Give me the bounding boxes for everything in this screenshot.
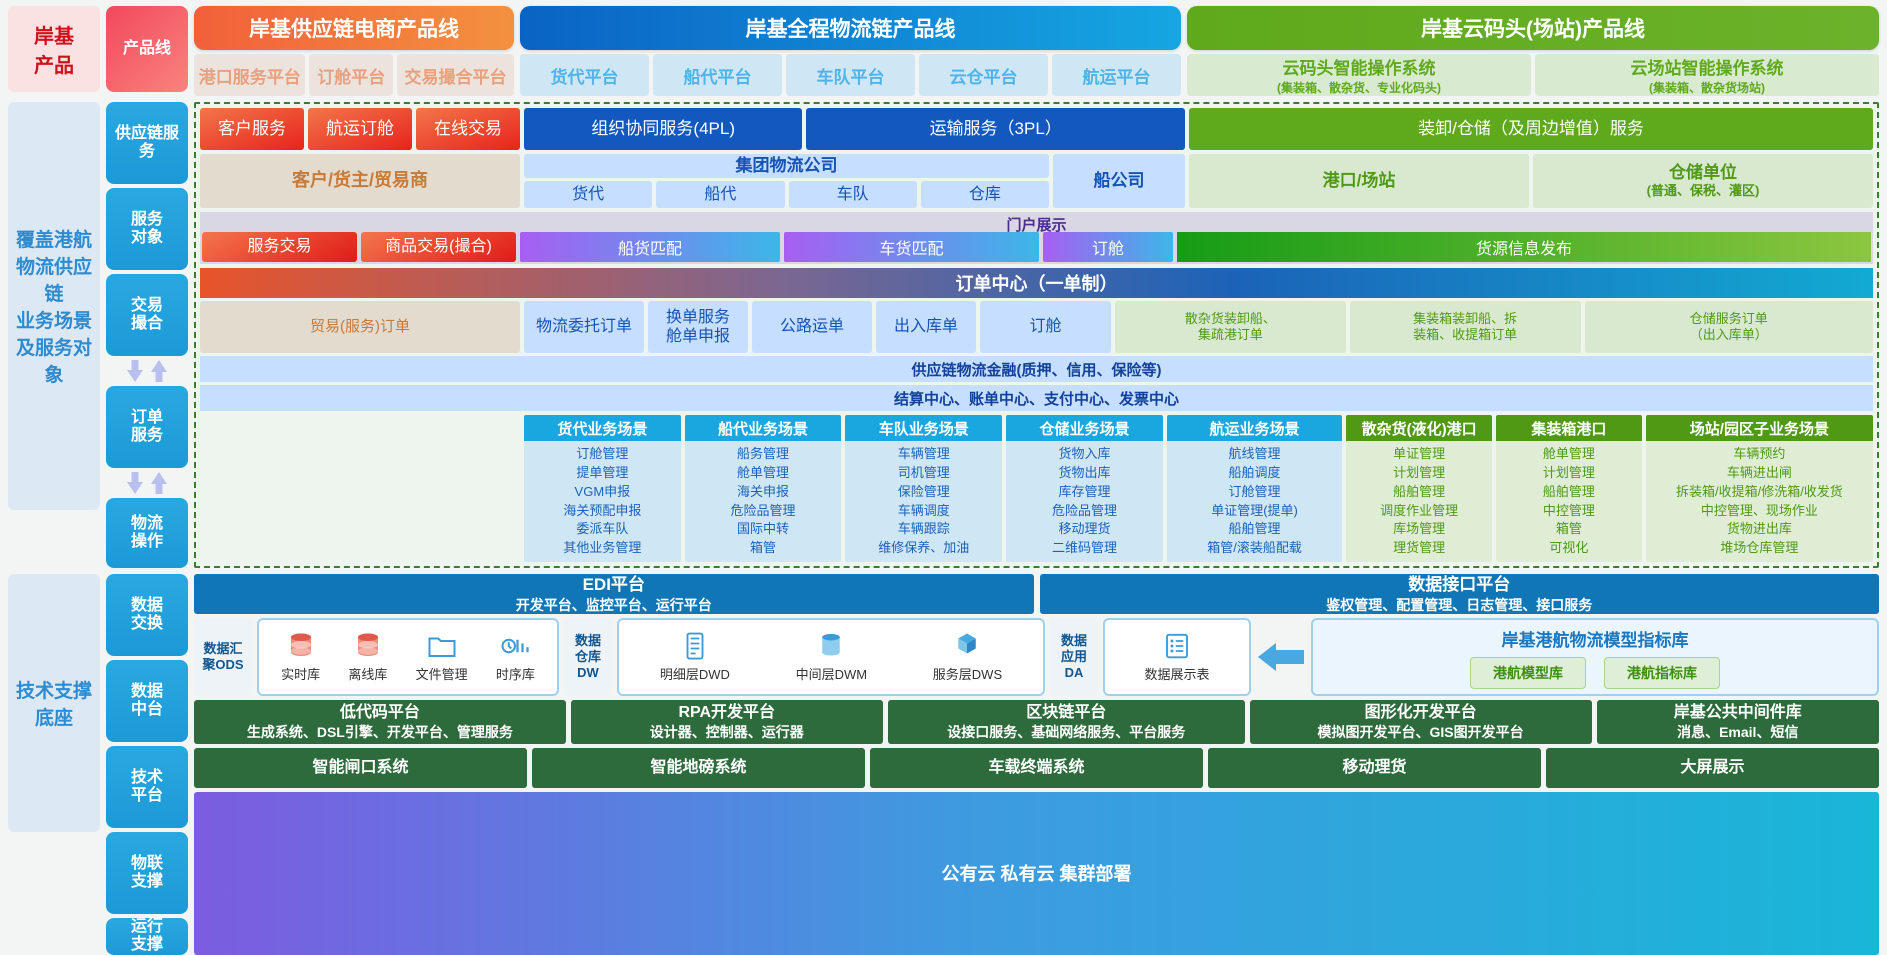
trade-booking[interactable]: 订舱 [1043, 232, 1173, 262]
scenario-item[interactable]: 车辆跟踪 [847, 520, 1000, 539]
order-trade-service[interactable]: 贸易(服务)订单 [200, 301, 520, 353]
object-warehouse[interactable]: 仓库 [921, 181, 1049, 208]
scenario-item[interactable]: 提单管理 [526, 464, 679, 483]
product-line-section: 岸基 产品 产品线 岸基供应链电商产品线 港口服务平台 订舱平台 交易撮合平台 … [8, 6, 1879, 96]
scenario-item[interactable]: 货物出库 [1008, 464, 1161, 483]
rpa-platform[interactable]: RPA开发平台 设计器、控制器、运行器 [571, 700, 883, 744]
edi-sub: 开发平台、监控平台、运行平台 [516, 596, 712, 614]
trade-service-transaction[interactable]: 服务交易 [202, 232, 357, 262]
logistics-ops-row: 货代业务场景 订舱管理提单管理VGM申报海关预配申报委派车队其他业务管理 船代业… [200, 415, 1873, 562]
row-label-data-midend[interactable]: 数据 中台 [106, 660, 188, 742]
index-library-button[interactable]: 港航指标库 [1604, 657, 1720, 689]
scenario-item[interactable]: 船舶调度 [1169, 464, 1341, 483]
graphics-sub: 模拟图开发平台、GIS图开发平台 [1318, 723, 1524, 742]
ods-offline[interactable]: 离线库 [348, 631, 387, 683]
service-loading-warehouse[interactable]: 装卸/仓储（及周边增值）服务 [1189, 108, 1873, 150]
business-section: 覆盖港航 物流供应 链 业务场景 及服务对象 供应链服 务 服务 对象 交易 撮… [8, 102, 1879, 568]
blockchain-sub: 设接口服务、基础网络服务、平台服务 [947, 723, 1185, 742]
layers-icon [680, 631, 710, 661]
row-label-service-object[interactable]: 服务 对象 [106, 188, 188, 270]
scenario-bulk-port[interactable]: 散杂货(液化)港口 单证管理计划管理船舶管理调度作业管理库场管理理货管理 [1346, 415, 1492, 562]
dw-label: 数据 仓库 DW [564, 618, 612, 696]
object-customer-shipper-trader[interactable]: 客户/货主/贸易商 [200, 154, 520, 208]
scenario-freight-forwarder[interactable]: 货代业务场景 订舱管理提单管理VGM申报海关预配申报委派车队其他业务管理 [524, 415, 681, 562]
edi-platform[interactable]: EDI平台 开发平台、监控平台、运行平台 [194, 574, 1034, 614]
sub-freight-forwarder-platform[interactable]: 货代平台 [520, 54, 649, 96]
scenario-items: 舱单管理计划管理船舶管理中控管理箱管可视化 [1496, 441, 1642, 562]
row-label-run-support[interactable]: 运行 支撑 [106, 918, 188, 955]
database-icon [286, 631, 316, 661]
scenario-item[interactable]: 其他业务管理 [526, 539, 679, 558]
object-port-yard[interactable]: 港口/场站 [1189, 154, 1529, 208]
sub-booking-platform[interactable]: 订舱平台 [309, 54, 393, 96]
scenario-item[interactable]: 船舶管理 [1348, 483, 1490, 502]
row-label-product-line: 产品线 [106, 6, 188, 92]
lowcode-title: 低代码平台 [340, 702, 420, 724]
iot-smart-gate[interactable]: 智能闸口系统 [194, 748, 527, 788]
sub-cloud-yard-os-main: 云场站智能操作系统 [1631, 54, 1784, 79]
scenario-items: 车辆预约车辆进出闸拆装箱/收提箱/修洗箱/收发货中控管理、现场作业货物进出库堆场… [1646, 441, 1873, 562]
middleware-sub: 消息、Email、短信 [1677, 723, 1798, 742]
database-icon [816, 631, 846, 661]
order-warehouse-service[interactable]: 仓储服务订单 （出入库单） [1585, 301, 1873, 353]
iot-smart-weighbridge[interactable]: 智能地磅系统 [532, 748, 865, 788]
architecture-diagram: 岸基 产品 产品线 岸基供应链电商产品线 港口服务平台 订舱平台 交易撮合平台 … [0, 0, 1887, 912]
scenario-item[interactable]: 箱管 [687, 539, 840, 558]
order-road-waybill[interactable]: 公路运单 [752, 301, 872, 353]
tech-section: 技术支撑 底座 数据 交换 数据 中台 技术 平台 物联 支撑 运行 支撑 ED… [8, 574, 1879, 955]
tech-platform-row: 低代码平台 生成系统、DSL引擎、开发平台、管理服务 RPA开发平台 设计器、控… [194, 700, 1879, 744]
row-label-logistics-ops[interactable]: 物流 操作 [106, 498, 188, 568]
scenario-item[interactable]: 拆装箱/收提箱/修洗箱/收发货 [1648, 483, 1871, 502]
dw-dws[interactable]: 服务层DWS [933, 631, 1002, 683]
dw-dwd-label: 明细层DWD [660, 664, 730, 683]
scenario-item[interactable]: 调度作业管理 [1348, 502, 1490, 521]
arrow-up-icon [150, 472, 168, 494]
scenario-title: 仓储业务场景 [1006, 415, 1163, 441]
ods-file-manage[interactable]: 文件管理 [416, 631, 468, 683]
scenario-item[interactable]: 航线管理 [1169, 445, 1341, 464]
object-ship-agency[interactable]: 船代 [656, 181, 784, 208]
scenario-item[interactable]: 船舶管理 [1169, 520, 1341, 539]
middleware-library[interactable]: 岸基公共中间件库 消息、Email、短信 [1597, 700, 1879, 744]
row-label-iot-support[interactable]: 物联 支撑 [106, 832, 188, 914]
scenario-item[interactable]: 计划管理 [1348, 464, 1490, 483]
scenario-item[interactable]: 司机管理 [847, 464, 1000, 483]
middleware-title: 岸基公共中间件库 [1674, 702, 1802, 724]
scenario-item[interactable]: 库场管理 [1348, 520, 1490, 539]
tech-row-labels: 数据 交换 数据 中台 技术 平台 物联 支撑 运行 支撑 [106, 574, 188, 955]
dw-card: 明细层DWD 中间层DWM 服务 [617, 618, 1045, 696]
sub-shipping-platform[interactable]: 航运平台 [1052, 54, 1181, 96]
scenario-ship-agency[interactable]: 船代业务场景 船务管理舱单管理海关申报危险品管理国际中转箱管 [685, 415, 842, 562]
row-label-supply-chain-service[interactable]: 供应链服 务 [106, 102, 188, 184]
arrow-up-icon [150, 360, 168, 382]
arrow-down-icon [126, 472, 144, 494]
object-group-title: 集团物流公司 [524, 154, 1049, 178]
dw-dwd[interactable]: 明细层DWD [660, 631, 730, 683]
scenario-title: 集装箱港口 [1496, 415, 1642, 441]
scenario-items: 货物入库货物出库库存管理危险品管理移动理货二维码管理 [1006, 441, 1163, 562]
scenario-yard-park[interactable]: 场站/园区子业务场景 车辆预约车辆进出闸拆装箱/收提箱/修洗箱/收发货中控管理、… [1646, 415, 1873, 562]
scenario-items: 单证管理计划管理船舶管理调度作业管理库场管理理货管理 [1346, 441, 1492, 562]
scenario-title: 船代业务场景 [685, 415, 842, 441]
product-line-logistics: 岸基全程物流链产品线 货代平台 船代平台 车队平台 云仓平台 航运平台 [520, 6, 1181, 96]
sub-cloud-yard-os-note: (集装箱、散杂货场站) [1649, 79, 1765, 96]
order-exchange-manifest[interactable]: 换单服务 舱单申报 [648, 301, 748, 353]
ods-timeseries[interactable]: 时序库 [496, 631, 535, 683]
scenario-item[interactable]: 保险管理 [847, 483, 1000, 502]
trade-ship-cargo-match[interactable]: 船货匹配 [520, 232, 780, 262]
ods-realtime-label: 实时库 [281, 664, 320, 683]
arrow-down-icon [126, 360, 144, 382]
scenario-item[interactable]: 车辆进出闸 [1648, 464, 1871, 483]
band-label-tech: 技术支撑 底座 [8, 574, 100, 832]
row-label-data-exchange[interactable]: 数据 交换 [106, 574, 188, 656]
scenario-item[interactable]: 中控管理 [1498, 502, 1640, 521]
product-line-ecommerce: 岸基供应链电商产品线 港口服务平台 订舱平台 交易撮合平台 [194, 6, 514, 96]
ods-label: 数据汇 聚ODS [194, 618, 252, 696]
scenario-title: 货代业务场景 [524, 415, 681, 441]
api-sub: 鉴权管理、配置管理、日志管理、接口服务 [1326, 596, 1592, 614]
sub-cloud-terminal-os[interactable]: 云码头智能操作系统 (集装箱、散杂货、专业化码头) [1187, 54, 1531, 96]
row-label-trade-match[interactable]: 交易 撮合 [106, 274, 188, 356]
arrows-up-down-1 [106, 360, 188, 382]
banner-logistics[interactable]: 岸基全程物流链产品线 [520, 6, 1181, 50]
sub-cloud-terminal-os-main: 云码头智能操作系统 [1283, 54, 1436, 79]
scenario-title: 车队业务场景 [845, 415, 1002, 441]
scenario-container-port[interactable]: 集装箱港口 舱单管理计划管理船舶管理中控管理箱管可视化 [1496, 415, 1642, 562]
scenario-item[interactable]: 货物入库 [1008, 445, 1161, 464]
cubes-icon [952, 631, 982, 661]
ods-card: 实时库 离线库 文件管理 [257, 618, 559, 696]
scenario-shipping[interactable]: 航运业务场景 航线管理船舶调度订舱管理单证管理(提单)船舶管理箱管/滚装船配载 [1167, 415, 1343, 562]
scenario-item[interactable]: 维修保养、加油 [847, 539, 1000, 558]
tech-content: EDI平台 开发平台、监控平台、运行平台 数据接口平台 鉴权管理、配置管理、日志… [194, 574, 1879, 955]
banner-terminal[interactable]: 岸基云码头(场站)产品线 [1187, 6, 1879, 50]
database-icon [353, 631, 383, 661]
scenario-item[interactable]: 海关申报 [687, 483, 840, 502]
trade-cargo-info-release[interactable]: 货源信息发布 [1177, 232, 1871, 262]
scenario-item[interactable]: 委派车队 [526, 520, 679, 539]
scenario-item[interactable]: 国际中转 [687, 520, 840, 539]
object-group-logistics: 集团物流公司 货代 船代 车队 仓库 [524, 154, 1049, 208]
product-line-terminal: 岸基云码头(场站)产品线 云码头智能操作系统 (集装箱、散杂货、专业化码头) 云… [1187, 6, 1879, 96]
scenario-items: 船务管理舱单管理海关申报危险品管理国际中转箱管 [685, 441, 842, 562]
scenario-item[interactable]: 订舱管理 [526, 445, 679, 464]
scenario-item[interactable]: 单证管理(提单) [1169, 502, 1341, 521]
scenario-title: 航运业务场景 [1167, 415, 1343, 441]
trade-goods-transaction[interactable]: 商品交易(撮合) [361, 232, 516, 262]
order-booking[interactable]: 订舱 [980, 301, 1111, 353]
scenario-item[interactable]: 移动理货 [1008, 520, 1161, 539]
ods-timeseries-label: 时序库 [496, 664, 535, 683]
table-icon [1162, 631, 1192, 661]
object-warehouse-unit-note: (普通、保税、灌区) [1647, 183, 1760, 199]
service-object-row: 客户/货主/贸易商 集团物流公司 货代 船代 车队 仓库 船公司 港口/场站 仓… [200, 154, 1873, 208]
data-exchange-row: EDI平台 开发平台、监控平台、运行平台 数据接口平台 鉴权管理、配置管理、日志… [194, 574, 1879, 614]
iot-vehicle-terminal[interactable]: 车载终端系统 [870, 748, 1203, 788]
blockchain-title: 区块链平台 [1026, 702, 1106, 724]
service-online-trade[interactable]: 在线交易 [416, 108, 520, 150]
scenario-item[interactable]: 危险品管理 [687, 502, 840, 521]
arrow-left-container [1256, 618, 1306, 696]
da-data-table-label: 数据展示表 [1144, 664, 1209, 683]
settlement-center-bar[interactable]: 结算中心、账单中心、支付中心、发票中心 [200, 385, 1873, 411]
row-label-tech-platform[interactable]: 技术 平台 [106, 746, 188, 828]
da-label: 数据 应用 DA [1050, 618, 1098, 696]
scenario-item[interactable]: 计划管理 [1498, 464, 1640, 483]
arrow-left-icon [1258, 640, 1304, 674]
sub-trade-match-platform[interactable]: 交易撮合平台 [397, 54, 514, 96]
business-row-labels: 供应链服 务 服务 对象 交易 撮合 订单 服务 [106, 102, 188, 568]
object-warehouse-unit-main: 仓储单位 [1669, 163, 1737, 183]
object-shipping-company[interactable]: 船公司 [1053, 154, 1185, 208]
scenario-fleet[interactable]: 车队业务场景 车辆管理司机管理保险管理车辆调度车辆跟踪维修保养、加油 [845, 415, 1002, 562]
scenario-items: 车辆管理司机管理保险管理车辆调度车辆跟踪维修保养、加油 [845, 441, 1002, 562]
service-shipping-booking[interactable]: 航运订舱 [308, 108, 412, 150]
service-3pl[interactable]: 运输服务（3PL） [806, 108, 1185, 150]
scenario-item[interactable]: 危险品管理 [1008, 502, 1161, 521]
sub-ship-agency-platform[interactable]: 船代平台 [653, 54, 782, 96]
trade-truck-cargo-match[interactable]: 车货匹配 [784, 232, 1039, 262]
sub-cloud-yard-os[interactable]: 云场站智能操作系统 (集装箱、散杂货场站) [1535, 54, 1879, 96]
scenario-items: 订舱管理提单管理VGM申报海关预配申报委派车队其他业务管理 [524, 441, 681, 562]
business-scope-box: 客户服务 航运订舱 在线交易 组织协同服务(4PL) 运输服务（3PL） 装卸/… [194, 102, 1879, 568]
scenario-item[interactable]: 车辆管理 [847, 445, 1000, 464]
model-library-button[interactable]: 港航模型库 [1470, 657, 1586, 689]
scenario-item[interactable]: VGM申报 [526, 483, 679, 502]
blockchain-platform[interactable]: 区块链平台 设接口服务、基础网络服务、平台服务 [888, 700, 1245, 744]
arrows-up-down-2 [106, 472, 188, 494]
scenario-item[interactable]: 库存管理 [1008, 483, 1161, 502]
dw-dws-label: 服务层DWS [933, 664, 1002, 683]
scenario-item[interactable]: 货物进出库 [1648, 520, 1871, 539]
order-container[interactable]: 集装箱装卸船、拆 装箱、收提箱订单 [1350, 301, 1581, 353]
lowcode-platform[interactable]: 低代码平台 生成系统、DSL引擎、开发平台、管理服务 [194, 700, 566, 744]
scenario-item[interactable]: 箱管 [1498, 520, 1640, 539]
scenario-item[interactable]: 舱单管理 [1498, 445, 1640, 464]
supply-chain-service-row: 客户服务 航运订舱 在线交易 组织协同服务(4PL) 运输服务（3PL） 装卸/… [200, 108, 1873, 150]
scenario-item[interactable]: 订舱管理 [1169, 483, 1341, 502]
order-logistics-entrust[interactable]: 物流委托订单 [524, 301, 644, 353]
lowcode-sub: 生成系统、DSL引擎、开发平台、管理服务 [247, 723, 513, 742]
rpa-title: RPA开发平台 [678, 702, 775, 724]
scenario-item[interactable]: 舱单管理 [687, 464, 840, 483]
order-inout-warehouse[interactable]: 出入库单 [876, 301, 976, 353]
object-warehouse-unit[interactable]: 仓储单位 (普通、保税、灌区) [1533, 154, 1873, 208]
dw-dwm[interactable]: 中间层DWM [796, 631, 868, 683]
dw-dwm-label: 中间层DWM [796, 664, 868, 683]
service-customer[interactable]: 客户服务 [200, 108, 304, 150]
model-index-title: 岸基港航物流模型指标库 [1502, 626, 1689, 651]
portal-display-title: 门户展示 [200, 214, 1873, 232]
sub-cloud-warehouse-platform[interactable]: 云仓平台 [919, 54, 1048, 96]
graphics-title: 图形化开发平台 [1365, 702, 1477, 724]
object-freight-forwarder[interactable]: 货代 [524, 181, 652, 208]
scenario-item[interactable]: 单证管理 [1348, 445, 1490, 464]
da-data-table[interactable]: 数据展示表 [1144, 631, 1209, 683]
row-label-order-service[interactable]: 订单 服务 [106, 386, 188, 468]
data-midend-row: 数据汇 聚ODS 实时库 [194, 618, 1879, 696]
api-platform[interactable]: 数据接口平台 鉴权管理、配置管理、日志管理、接口服务 [1040, 574, 1880, 614]
scenario-item[interactable]: 可视化 [1498, 539, 1640, 558]
ods-offline-label: 离线库 [348, 664, 387, 683]
supply-chain-finance-bar[interactable]: 供应链物流金融(质押、信用、保险等) [200, 356, 1873, 382]
order-bulk-cargo[interactable]: 散杂货装卸船、 集疏港订单 [1115, 301, 1346, 353]
graphics-platform[interactable]: 图形化开发平台 模拟图开发平台、GIS图开发平台 [1250, 700, 1592, 744]
object-fleet[interactable]: 车队 [789, 181, 917, 208]
timeseries-icon [500, 631, 530, 661]
ods-realtime[interactable]: 实时库 [281, 631, 320, 683]
edi-title: EDI平台 [583, 574, 645, 596]
da-card: 数据展示表 [1103, 618, 1251, 696]
folder-icon [427, 631, 457, 661]
order-center-title: 订单中心（一单制） [200, 268, 1873, 298]
scenario-items: 航线管理船舶调度订舱管理单证管理(提单)船舶管理箱管/滚装船配载 [1167, 441, 1343, 562]
trade-match-row: 门户展示 服务交易 商品交易(撮合) 船货匹配 车货匹配 订舱 货源信息发布 [200, 212, 1873, 264]
scenario-warehouse[interactable]: 仓储业务场景 货物入库货物出库库存管理危险品管理移动理货二维码管理 [1006, 415, 1163, 562]
scenario-title: 散杂货(液化)港口 [1346, 415, 1492, 441]
scenario-item[interactable]: 二维码管理 [1008, 539, 1161, 558]
order-center-block: 订单中心（一单制） 贸易(服务)订单 物流委托订单 换单服务 舱单申报 公路运单… [200, 268, 1873, 411]
scenario-item[interactable]: 车辆调度 [847, 502, 1000, 521]
sub-port-service-platform[interactable]: 港口服务平台 [194, 54, 305, 96]
scenario-item[interactable]: 理货管理 [1348, 539, 1490, 558]
scenario-item[interactable]: 堆场仓库管理 [1648, 539, 1871, 558]
run-support-bar[interactable]: 公有云 私有云 集群部署 [194, 792, 1879, 955]
service-4pl[interactable]: 组织协同服务(4PL) [524, 108, 802, 150]
rpa-sub: 设计器、控制器、运行器 [650, 723, 804, 742]
banner-ecommerce[interactable]: 岸基供应链电商产品线 [194, 6, 514, 50]
ods-file-label: 文件管理 [416, 664, 468, 683]
scenario-item[interactable]: 车辆预约 [1648, 445, 1871, 464]
scenario-item[interactable]: 船务管理 [687, 445, 840, 464]
iot-large-screen[interactable]: 大屏展示 [1546, 748, 1879, 788]
scenario-title: 场站/园区子业务场景 [1646, 415, 1873, 441]
scenario-item[interactable]: 船舶管理 [1498, 483, 1640, 502]
band-label-product: 岸基 产品 [8, 6, 100, 92]
api-title: 数据接口平台 [1408, 574, 1510, 596]
scenario-item[interactable]: 箱管/滚装船配载 [1169, 539, 1341, 558]
model-index-library: 岸基港航物流模型指标库 港航模型库 港航指标库 [1311, 618, 1879, 696]
sub-cloud-terminal-os-note: (集装箱、散杂货、专业化码头) [1277, 79, 1441, 96]
iot-mobile-tally[interactable]: 移动理货 [1208, 748, 1541, 788]
iot-support-row: 智能闸口系统 智能地磅系统 车载终端系统 移动理货 大屏展示 [194, 748, 1879, 788]
band-label-business: 覆盖港航 物流供应 链 业务场景 及服务对象 [8, 102, 100, 510]
scenario-item[interactable]: 中控管理、现场作业 [1648, 502, 1871, 521]
scenario-item[interactable]: 海关预配申报 [526, 502, 679, 521]
order-items-row: 贸易(服务)订单 物流委托订单 换单服务 舱单申报 公路运单 出入库单 订舱 散… [200, 301, 1873, 353]
sub-fleet-platform[interactable]: 车队平台 [786, 54, 915, 96]
